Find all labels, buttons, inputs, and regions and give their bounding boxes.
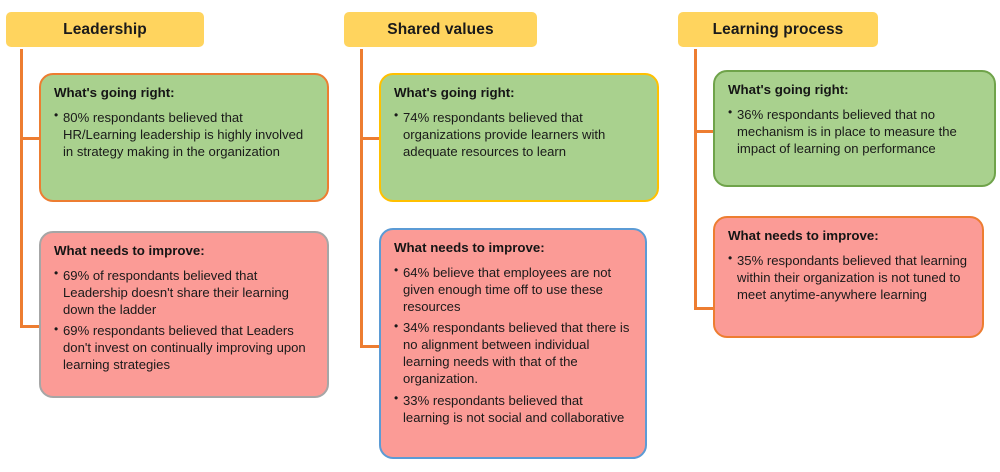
diagram-canvas: Leadership What's going right: 80% respo… <box>0 0 1000 472</box>
negative-bullet-list-learning-process: 35% respondants believed that learning w… <box>728 252 970 303</box>
list-item: 34% respondants believed that there is n… <box>394 319 633 388</box>
header-label-shared-values: Shared values <box>387 21 493 39</box>
list-item: 69% respondants believed that Leaders do… <box>54 322 315 373</box>
list-item: 64% believe that employees are not given… <box>394 264 633 315</box>
positive-box-leadership[interactable]: What's going right: 80% respondants beli… <box>39 73 329 202</box>
positive-box-shared-values[interactable]: What's going right: 74% respondants beli… <box>379 73 659 202</box>
negative-bullet-list-leadership: 69% of respondants believed that Leaders… <box>54 267 315 374</box>
list-item: 69% of respondants believed that Leaders… <box>54 267 315 318</box>
list-item: 36% respondants believed that no mechani… <box>728 106 982 157</box>
negative-box-shared-values[interactable]: What needs to improve: 64% believe that … <box>379 228 647 459</box>
negative-box-learning-process[interactable]: What needs to improve: 35% respondants b… <box>713 216 984 338</box>
connector-vertical-leadership <box>20 48 23 328</box>
connector-vertical-learning-process <box>694 48 697 310</box>
header-box-learning-process[interactable]: Learning process <box>676 10 880 49</box>
positive-box-title-leadership: What's going right: <box>54 85 315 102</box>
positive-bullet-list-learning-process: 36% respondants believed that no mechani… <box>728 106 982 157</box>
positive-bullet-list-leadership: 80% respondants believed that HR/Learnin… <box>54 109 315 160</box>
header-label-leadership: Leadership <box>63 21 147 39</box>
header-box-shared-values[interactable]: Shared values <box>342 10 539 49</box>
negative-bullet-list-shared-values: 64% believe that employees are not given… <box>394 264 633 426</box>
negative-box-title-leadership: What needs to improve: <box>54 243 315 260</box>
header-label-learning-process: Learning process <box>713 21 844 39</box>
negative-box-title-shared-values: What needs to improve: <box>394 240 633 257</box>
positive-box-title-shared-values: What's going right: <box>394 85 645 102</box>
header-box-leadership[interactable]: Leadership <box>4 10 206 49</box>
list-item: 35% respondants believed that learning w… <box>728 252 970 303</box>
positive-box-learning-process[interactable]: What's going right: 36% respondants beli… <box>713 70 996 187</box>
positive-box-title-learning-process: What's going right: <box>728 82 982 99</box>
list-item: 33% respondants believed that learning i… <box>394 392 633 426</box>
positive-bullet-list-shared-values: 74% respondants believed that organizati… <box>394 109 645 160</box>
negative-box-leadership[interactable]: What needs to improve: 69% of respondant… <box>39 231 329 398</box>
negative-box-title-learning-process: What needs to improve: <box>728 228 970 245</box>
connector-vertical-shared-values <box>360 48 363 348</box>
list-item: 80% respondants believed that HR/Learnin… <box>54 109 315 160</box>
list-item: 74% respondants believed that organizati… <box>394 109 645 160</box>
